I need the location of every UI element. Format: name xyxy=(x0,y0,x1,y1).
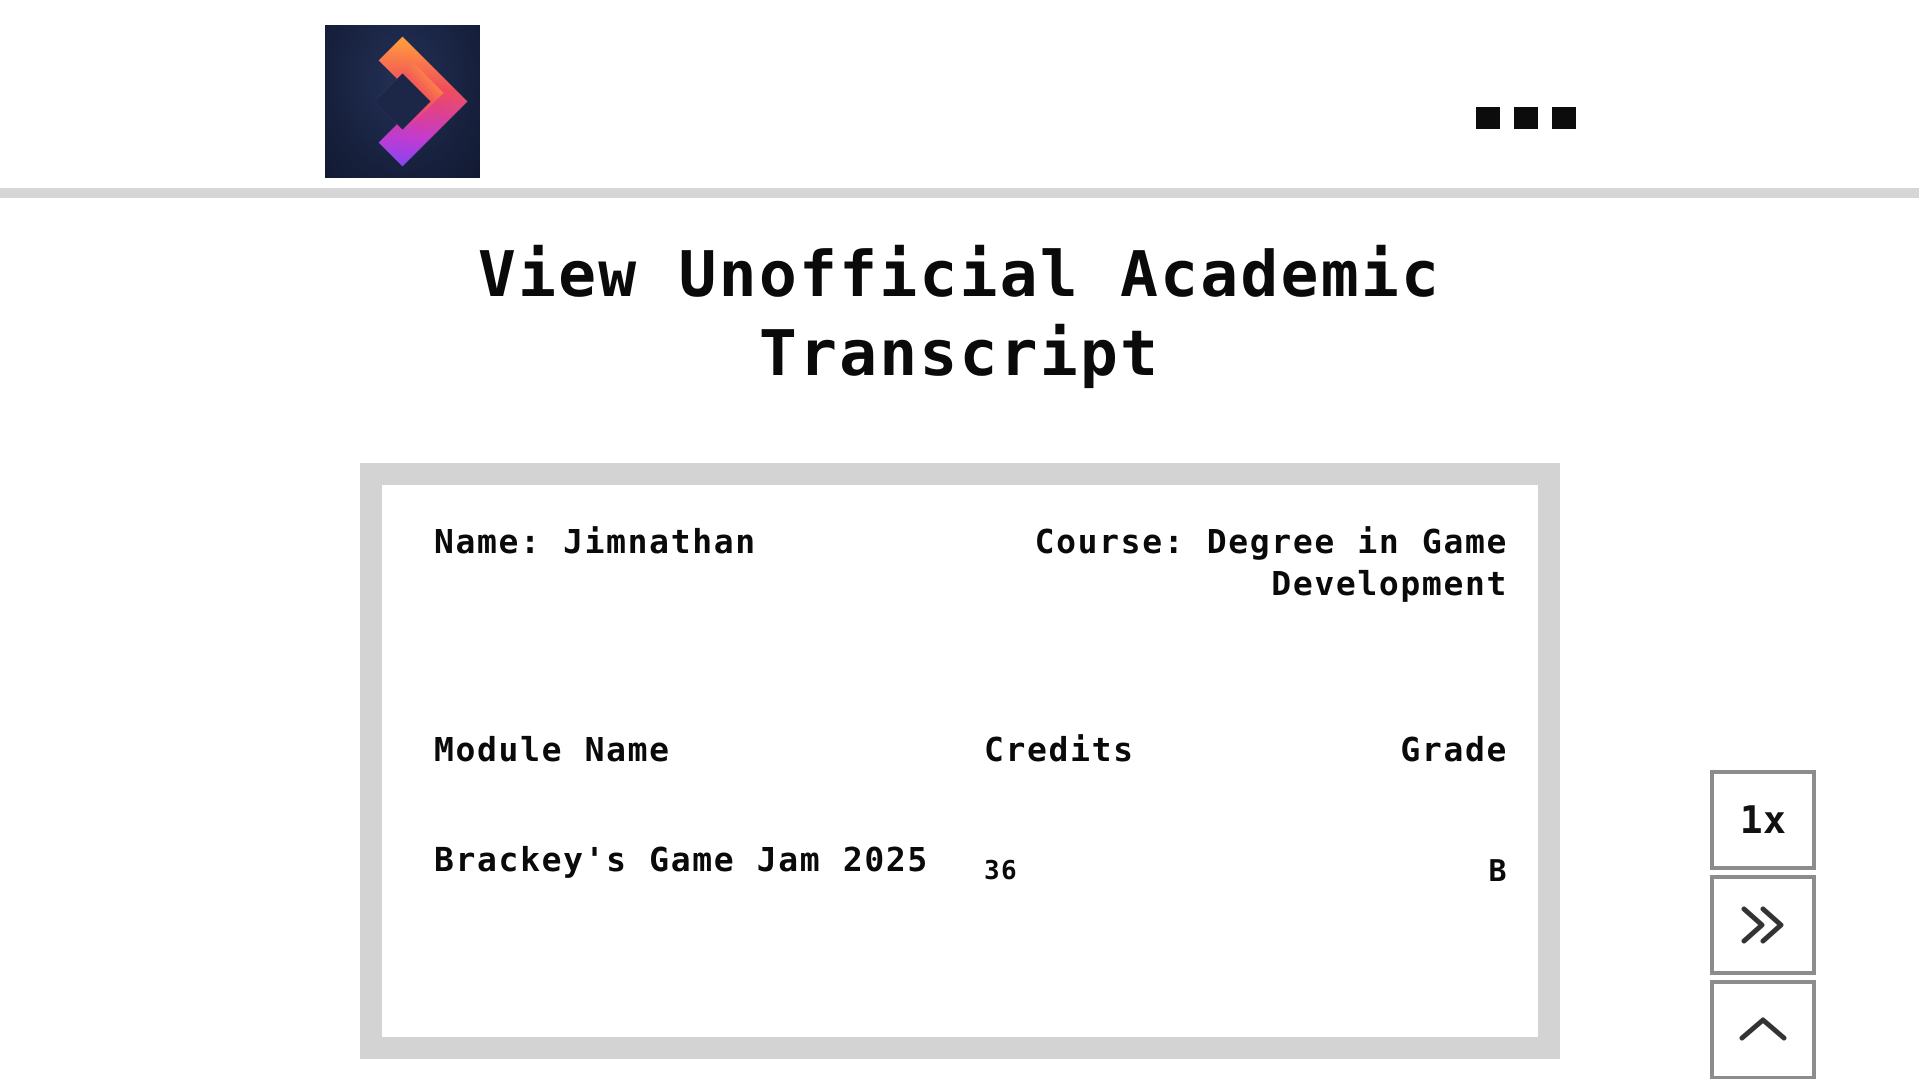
chevron-up-icon xyxy=(1734,1010,1792,1050)
playback-speed-button[interactable]: 1x xyxy=(1710,770,1816,870)
column-header-module-name: Module Name xyxy=(434,729,984,771)
header-divider xyxy=(0,188,1919,198)
app-logo-diamond-icon[interactable] xyxy=(325,25,480,178)
column-header-grade: Grade xyxy=(1324,729,1508,771)
overflow-menu-button[interactable] xyxy=(1476,104,1576,132)
transcript-screen: View Unofficial Academic Transcript Name… xyxy=(0,0,1919,1079)
cell-module-name: Brackey's Game Jam 2025 xyxy=(434,839,984,881)
cell-grade: B xyxy=(1324,839,1508,891)
transcript-card: Name: Jimnathan Course: Degree in Game D… xyxy=(360,463,1560,1059)
playback-controls: 1x xyxy=(1710,770,1816,1079)
app-header xyxy=(0,0,1919,188)
cell-credits: 36 xyxy=(984,839,1324,888)
student-info-row: Name: Jimnathan Course: Degree in Game D… xyxy=(434,521,1508,605)
ellipsis-horizontal-icon xyxy=(1476,107,1500,129)
fast-forward-chevrons-icon xyxy=(1736,901,1790,949)
table-row: Brackey's Game Jam 2025 36 B xyxy=(434,839,1508,891)
ellipsis-dot-2 xyxy=(1514,107,1538,129)
transcript-card-inner: Name: Jimnathan Course: Degree in Game D… xyxy=(382,485,1538,1037)
student-name: Name: Jimnathan xyxy=(434,521,757,563)
table-header-row: Module Name Credits Grade xyxy=(434,729,1508,771)
transcript-table: Module Name Credits Grade Brackey's Game… xyxy=(434,729,1508,892)
collapse-button[interactable] xyxy=(1710,980,1816,1079)
ellipsis-dot-3 xyxy=(1552,107,1576,129)
fast-forward-button[interactable] xyxy=(1710,875,1816,975)
column-header-credits: Credits xyxy=(984,729,1324,771)
student-course: Course: Degree in Game Development xyxy=(1008,521,1508,605)
playback-speed-label: 1x xyxy=(1740,798,1787,842)
page-title: View Unofficial Academic Transcript xyxy=(0,235,1919,394)
